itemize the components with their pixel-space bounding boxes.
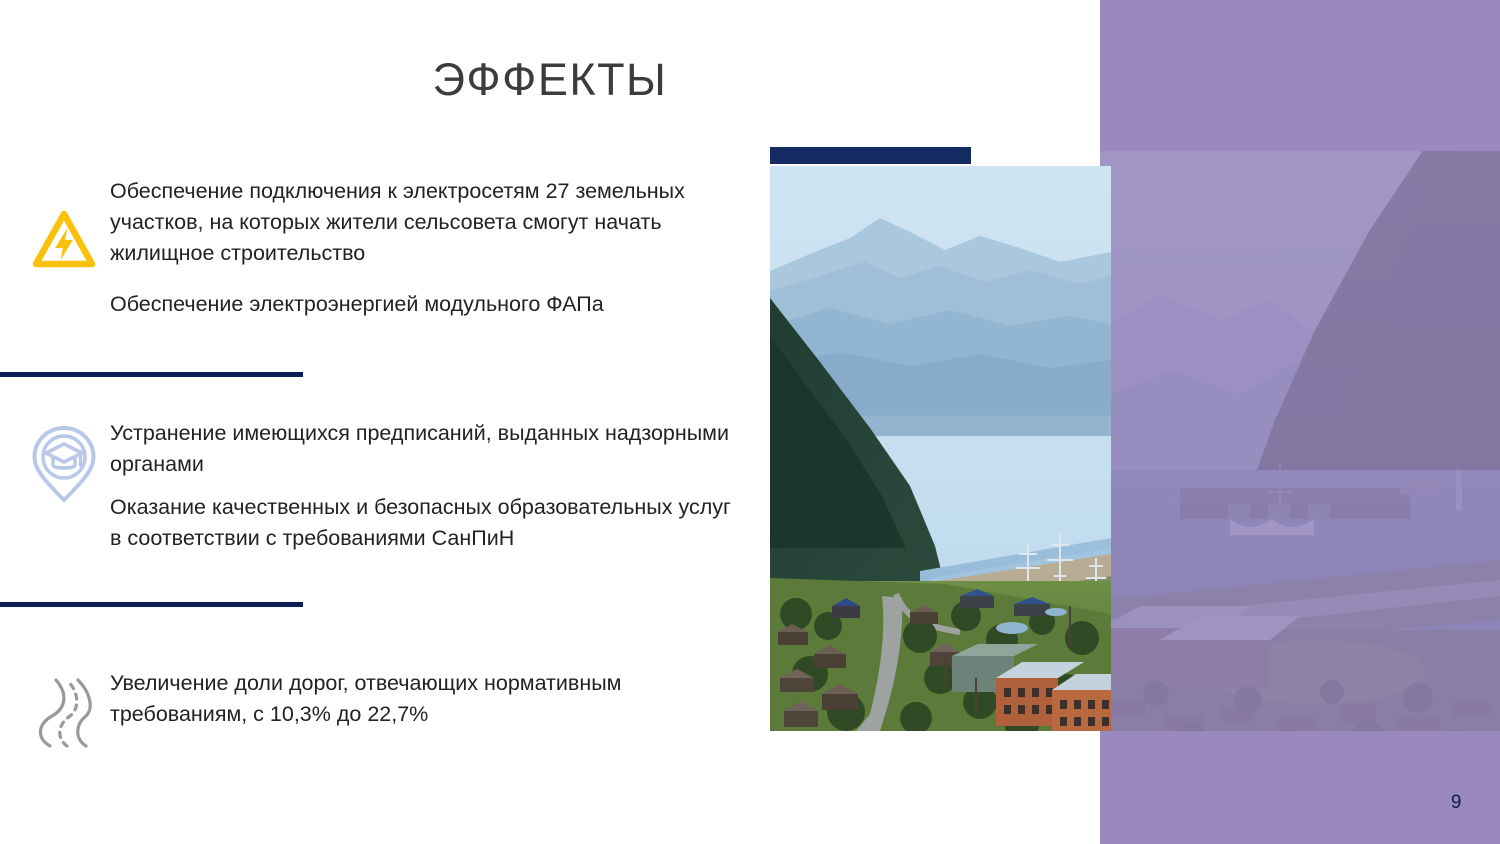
content-block-roads: Увеличение доли дорог, отвечающих нормат… bbox=[18, 668, 738, 750]
paragraph: Обеспечение подключения к электросетям 2… bbox=[110, 176, 738, 269]
paragraph: Устранение имеющихся предписаний, выданн… bbox=[110, 418, 738, 480]
content-block-education: Устранение имеющихся предписаний, выданн… bbox=[18, 418, 738, 554]
main-photo bbox=[770, 166, 1111, 731]
purple-panel-top-solid bbox=[1100, 0, 1500, 151]
photo-accent-bar bbox=[770, 147, 971, 164]
paragraph: Обеспечение электроэнергией модульного Ф… bbox=[110, 289, 738, 320]
content-block-education-text: Устранение имеющихся предписаний, выданн… bbox=[110, 418, 738, 554]
content-block-electricity: Обеспечение подключения к электросетям 2… bbox=[18, 176, 738, 320]
page-number: 9 bbox=[1451, 792, 1462, 814]
paragraph: Увеличение доли дорог, отвечающих нормат… bbox=[110, 668, 738, 730]
electricity-warning-icon bbox=[18, 176, 110, 272]
paragraph: Оказание качественных и безопасных образ… bbox=[110, 492, 738, 554]
section-divider-1 bbox=[0, 372, 303, 377]
education-pin-icon bbox=[18, 418, 110, 504]
presentation-slide: 9 ЭФФЕКТЫ Обеспечение подключения к элек… bbox=[0, 0, 1500, 844]
content-block-electricity-text: Обеспечение подключения к электросетям 2… bbox=[110, 176, 738, 320]
content-block-roads-text: Увеличение доли дорог, отвечающих нормат… bbox=[110, 668, 738, 730]
winding-road-icon bbox=[18, 668, 110, 750]
page-title: ЭФФЕКТЫ bbox=[0, 54, 1100, 106]
section-divider-2 bbox=[0, 602, 303, 607]
purple-panel-bottom-solid bbox=[1100, 731, 1500, 844]
